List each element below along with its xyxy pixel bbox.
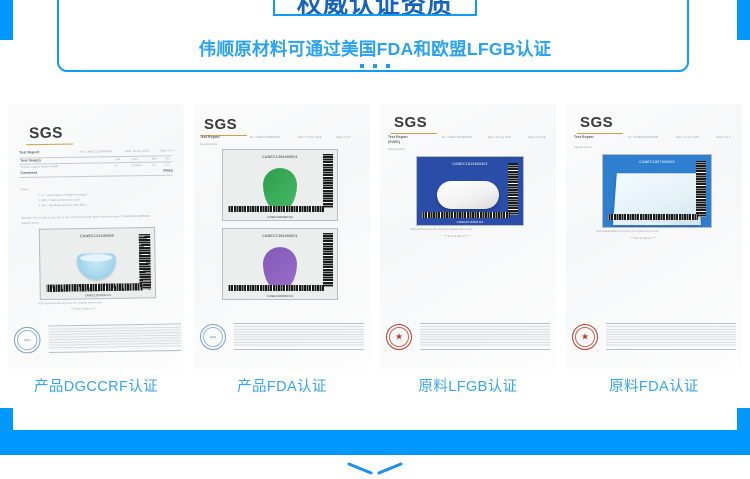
certificate-card-dgccrf[interactable]: SGS Test Report No. CANEC12104556001 Dat… xyxy=(8,104,184,369)
sample-note: Sample photo: xyxy=(388,148,406,151)
end-of-report-note: *** End of Report *** xyxy=(630,237,656,240)
sample-photo-caption: CANEC12104556 001 xyxy=(41,293,155,298)
dot-icon xyxy=(386,64,390,68)
report-number: No. CANEC12104556001 xyxy=(80,150,112,154)
sgs-logo: SGS xyxy=(29,124,63,142)
header-banner: 权威认证资质 伟顺原材料可通过美国FDA和欧盟LFGB认证 xyxy=(0,0,750,90)
sample-photo-code: CANEC1807300400 xyxy=(603,160,711,164)
report-footer: ★ xyxy=(572,323,736,359)
report-page: Page 6 of 6 xyxy=(716,136,730,139)
report-label: Test Report xyxy=(200,136,220,139)
sample-photo-caption: CANEC16 146004 001 xyxy=(417,221,523,224)
sample-photo-caption: CANEC18 073004 001 xyxy=(603,223,711,226)
sample-photo-top: CANEC1306490001 CANEC13064900 001 xyxy=(222,149,338,221)
certificate-paper: SGS Test Report (SVHC) No. CANEC16146004… xyxy=(380,104,556,369)
report-remark: Remark: The results & photo(s) of this r… xyxy=(21,215,150,220)
sgs-logo: SGS xyxy=(394,114,427,131)
report-footer: ★ xyxy=(386,323,550,359)
result-header: 001 xyxy=(165,157,170,161)
report-footer: SGS xyxy=(200,323,364,359)
comment-value: PASS xyxy=(163,169,173,173)
report-number: No. CANEC1807300400 xyxy=(628,136,658,139)
end-of-report-note: *** End of Report *** xyxy=(444,235,470,238)
authenticate-note: SGS authenticate the photo on original r… xyxy=(410,228,473,231)
report-label: Test Report xyxy=(388,136,408,139)
report-label: Test Report xyxy=(19,151,39,155)
sample-note: Sample photo: xyxy=(21,222,39,226)
dot-icon xyxy=(360,64,364,68)
right-accent-bar xyxy=(737,0,750,40)
certificate-card-material-fda[interactable]: SGS Test Report No. CANEC1807300400 Date… xyxy=(566,104,742,369)
sample-photo: CANEC1614600401 CANEC16 146004 001 xyxy=(416,156,524,226)
sgs-logo: SGS xyxy=(580,114,613,131)
note-3: 3. ND = Not Detected (less than MDL) xyxy=(38,203,86,207)
report-number: No. CANEC1306490001 xyxy=(250,136,280,139)
bowl-object xyxy=(77,253,116,280)
report-label-2: (SVHC) xyxy=(388,141,400,144)
report-date: Date: 07 Nov 2013 xyxy=(298,136,321,139)
caption-product-fda: 产品FDA认证 xyxy=(194,375,370,401)
limit-header: Limit xyxy=(131,158,137,162)
header-dots xyxy=(0,64,750,68)
test-row-limit: % (w/w) xyxy=(132,164,142,168)
unit-header: Unit xyxy=(115,158,120,162)
certificate-paper: SGS Test Report No. CANEC1306490001 Date… xyxy=(194,104,370,369)
test-row-name: Volatile organic matter (VOM) xyxy=(20,165,58,169)
scroll-down-indicator[interactable] xyxy=(0,458,750,479)
test-row-unit: % xyxy=(115,164,118,168)
notes-label: Notes : xyxy=(21,188,30,192)
dot-icon xyxy=(373,64,377,68)
report-page: Page 16 of 16 xyxy=(528,136,545,139)
sgs-stamp-icon: SGS xyxy=(200,324,226,350)
white-pod-object xyxy=(437,181,499,209)
report-page: Page 1 of 3 xyxy=(160,149,175,153)
sample-photo-bottom: CANEC1306490001 CANEC13064900 001 xyxy=(222,228,338,300)
header-subtitle: 伟顺原材料可通过美国FDA和欧盟LFGB认证 xyxy=(0,36,750,61)
report-date: Date: 23 Aug 2012 xyxy=(125,149,149,153)
mdl-header: MDL xyxy=(152,157,158,161)
certificate-paper: SGS Test Report No. CANEC1807300400 Date… xyxy=(566,104,742,369)
authenticate-note: SGS authenticate the photo on original r… xyxy=(596,230,659,233)
sample-photo-caption: CANEC13064900 001 xyxy=(223,216,337,219)
header-title-box: 权威认证资质 xyxy=(273,0,477,16)
report-page: Page 4 of 5 xyxy=(336,136,350,139)
note-1: 1. % = percentage of weight by weight xyxy=(38,193,87,197)
certificate-captions-row: 产品DGCCRF认证 产品FDA认证 原料LFGB认证 原料FDA认证 xyxy=(0,375,750,401)
sample-note: Sample photo: xyxy=(200,143,218,146)
test-row-result: 0.5 xyxy=(165,163,169,167)
sample-photo-code: CANEC1306490001 xyxy=(223,234,337,238)
note-2: 2. MDL = Method Detection Limit xyxy=(38,198,80,202)
sgs-logo: SGS xyxy=(204,116,237,133)
sample-photo-code: CANEC1306490001 xyxy=(223,155,337,159)
end-of-report-note: *** End of Report *** xyxy=(71,307,97,311)
comment-label: Comment xyxy=(21,172,38,176)
bottom-white-strip xyxy=(0,408,750,430)
sample-photo-code: CANEC121045560 xyxy=(40,233,154,239)
certificate-card-product-fda[interactable]: SGS Test Report No. CANEC1306490001 Date… xyxy=(194,104,370,369)
caption-material-fda: 原料FDA认证 xyxy=(566,375,742,401)
authenticate-note: SGS authenticate the photo on original r… xyxy=(38,301,102,305)
caption-lfgb: 原料LFGB认证 xyxy=(380,375,556,401)
report-number: No. CANEC1614600401 xyxy=(442,136,472,139)
sample-photo: CANEC1807300400 CANEC18 073004 001 xyxy=(602,154,712,228)
authority-stamp-icon: ★ xyxy=(386,324,412,350)
report-date: Date: 27 Apr 2018 xyxy=(676,136,699,139)
caption-dgccrf: 产品DGCCRF认证 xyxy=(8,375,184,401)
test-row-mdl: 0.1 xyxy=(152,164,156,168)
chevron-down-icon xyxy=(343,461,407,477)
certificate-paper: SGS Test Report No. CANEC12104556001 Dat… xyxy=(8,104,184,369)
left-accent-bar xyxy=(0,0,13,40)
report-date: Date: 01 Aug 2016 xyxy=(488,136,511,139)
bottom-blue-bar xyxy=(0,430,750,455)
sample-note: Sample photo: xyxy=(574,146,592,149)
sgs-stamp-icon: SGS xyxy=(14,327,41,354)
authority-stamp-icon: ★ xyxy=(572,324,598,350)
certificates-row: SGS Test Report No. CANEC12104556001 Dat… xyxy=(0,104,750,369)
sample-photo: CANEC121045560 CANEC12104556 001 xyxy=(39,227,156,300)
report-label: Test Report xyxy=(574,136,594,139)
page-title: 权威认证资质 xyxy=(297,0,453,16)
report-footer: SGS xyxy=(14,323,182,362)
sample-photo-caption: CANEC13064900 001 xyxy=(223,295,337,298)
certificate-card-lfgb[interactable]: SGS Test Report (SVHC) No. CANEC16146004… xyxy=(380,104,556,369)
